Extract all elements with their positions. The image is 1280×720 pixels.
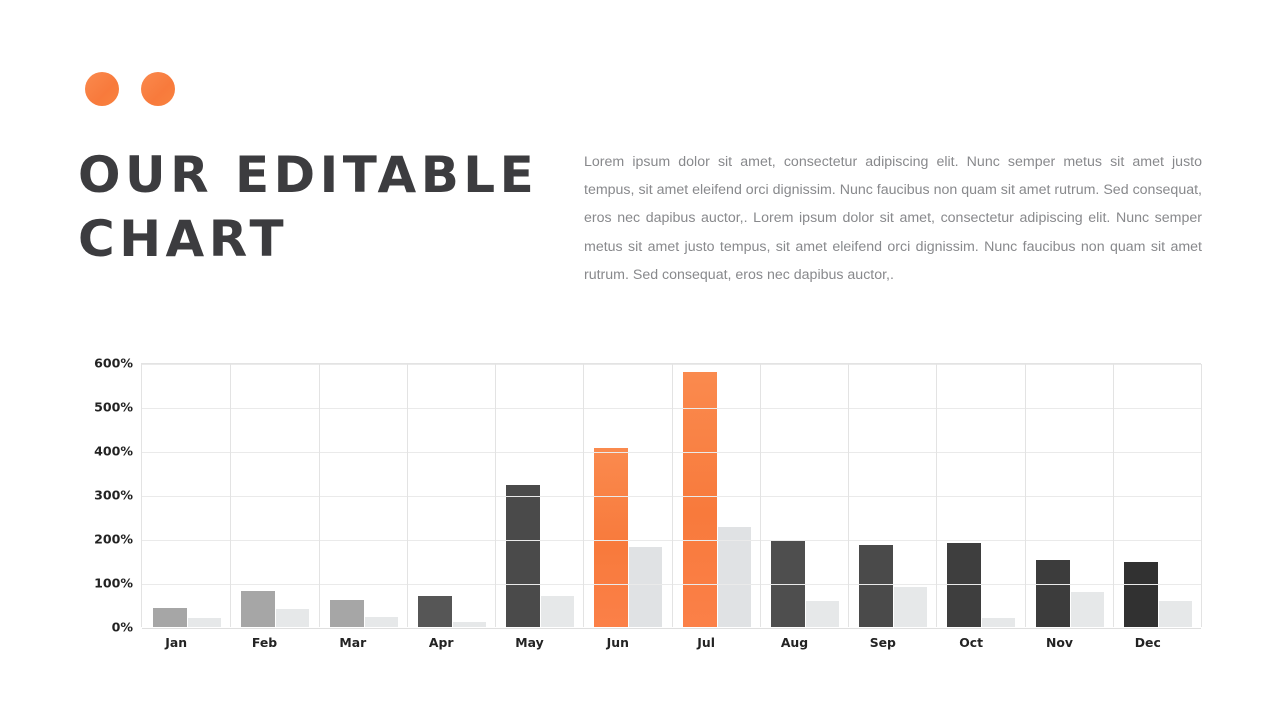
x-axis-tick-label: Oct: [936, 635, 1024, 650]
y-axis-tick-label: 200%: [94, 532, 133, 547]
gridline-vertical: [230, 364, 231, 627]
bar-chart: 0%100%200%300%400%500%600% JanFebMarAprM…: [78, 352, 1208, 652]
bar-jul-primary: [683, 372, 717, 627]
gridline-vertical: [407, 364, 408, 627]
bar-apr-secondary: [453, 622, 486, 627]
plot-area: [141, 363, 1201, 627]
bar-jun-primary: [594, 448, 628, 627]
y-axis-tick-label: 0%: [112, 620, 133, 635]
bar-jan-secondary: [188, 618, 221, 627]
bar-sep-primary: [859, 545, 893, 627]
decorative-dots: [85, 72, 175, 106]
bar-jul-secondary: [718, 527, 751, 627]
x-axis-tick-label: Mar: [318, 635, 406, 650]
bar-feb-primary: [241, 591, 275, 627]
bar-mar-secondary: [365, 617, 398, 627]
y-axis-tick-label: 500%: [94, 400, 133, 415]
gridline-vertical: [672, 364, 673, 627]
x-axis-tick-label: Aug: [759, 635, 847, 650]
x-axis-tick-label: Jan: [141, 635, 229, 650]
gridline-vertical: [1201, 364, 1202, 627]
gridline-vertical: [495, 364, 496, 627]
x-axis-tick-label: Jun: [583, 635, 671, 650]
orange-circle-icon: [85, 72, 119, 106]
x-axis-tick-label: Sep: [848, 635, 936, 650]
gridline-vertical: [936, 364, 937, 627]
gridline-vertical: [583, 364, 584, 627]
gridline-vertical: [760, 364, 761, 627]
bar-may-primary: [506, 485, 540, 627]
bar-nov-primary: [1036, 560, 1070, 627]
y-axis-tick-label: 600%: [94, 356, 133, 371]
gridline-vertical: [1113, 364, 1114, 627]
y-axis: 0%100%200%300%400%500%600%: [78, 352, 133, 627]
bar-mar-primary: [330, 600, 364, 627]
x-axis-tick-label: May: [494, 635, 582, 650]
gridline-vertical: [319, 364, 320, 627]
bar-oct-secondary: [982, 618, 1015, 627]
y-axis-tick-label: 100%: [94, 576, 133, 591]
x-axis-tick-label: Nov: [1024, 635, 1112, 650]
bar-dec-secondary: [1159, 601, 1192, 627]
bar-sep-secondary: [894, 587, 927, 627]
x-axis-tick-label: Apr: [406, 635, 494, 650]
bar-jan-primary: [153, 608, 187, 627]
x-axis-tick-label: Feb: [229, 635, 317, 650]
bar-apr-primary: [418, 596, 452, 627]
gridline-vertical: [848, 364, 849, 627]
page-title: OUR EDITABLE CHART: [78, 143, 558, 271]
bar-may-secondary: [541, 596, 574, 627]
bar-feb-secondary: [276, 609, 309, 627]
x-axis-tick-label: Jul: [671, 635, 759, 650]
bar-dec-primary: [1124, 562, 1158, 627]
intro-paragraph: Lorem ipsum dolor sit amet, consectetur …: [584, 148, 1202, 289]
bar-jun-secondary: [629, 547, 662, 627]
bar-nov-secondary: [1071, 592, 1104, 627]
bar-aug-secondary: [806, 601, 839, 627]
x-axis-tick-label: Dec: [1113, 635, 1201, 650]
gridline-horizontal: [142, 628, 1201, 629]
gridline-vertical: [1025, 364, 1026, 627]
y-axis-tick-label: 300%: [94, 488, 133, 503]
orange-circle-icon: [141, 72, 175, 106]
y-axis-tick-label: 400%: [94, 444, 133, 459]
x-axis: JanFebMarAprMayJunJulAugSepOctNovDec: [141, 635, 1201, 650]
